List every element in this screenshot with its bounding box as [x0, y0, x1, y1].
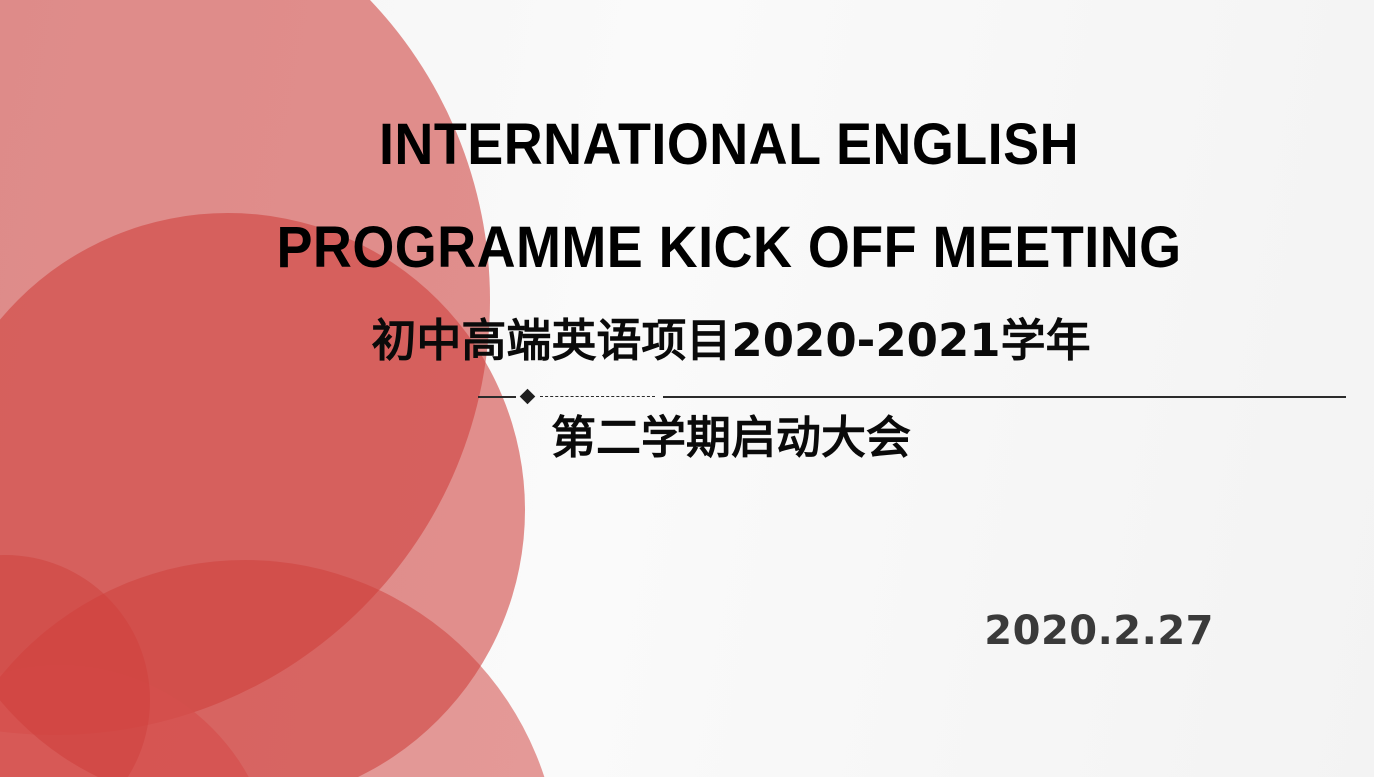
- slide-content: INTERNATIONAL ENGLISH PROGRAMME KICK OFF…: [0, 0, 1374, 777]
- divider-solid-left-segment: [478, 396, 516, 398]
- divider-solid-right-segment: [663, 396, 1346, 398]
- slide-canvas: INTERNATIONAL ENGLISH PROGRAMME KICK OFF…: [0, 0, 1374, 777]
- title-english-line-1: INTERNATIONAL ENGLISH: [90, 110, 1368, 180]
- title-english-line-2: PROGRAMME KICK OFF MEETING: [90, 213, 1368, 283]
- divider-dashed-segment: [540, 396, 655, 397]
- diamond-marker-icon: [520, 389, 536, 405]
- divider-rule: [478, 390, 1346, 404]
- slide-date: 2020.2.27: [984, 608, 1214, 654]
- subtitle-chinese-line-1: 初中高端英语项目2020-2021学年: [44, 313, 1374, 369]
- subtitle-chinese-line-2: 第二学期启动大会: [44, 410, 1374, 466]
